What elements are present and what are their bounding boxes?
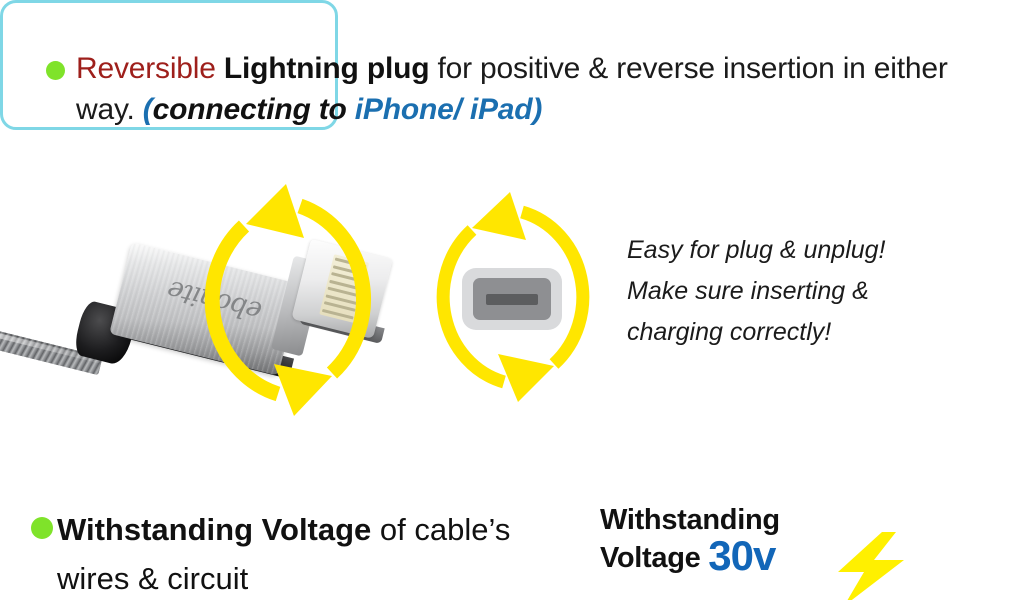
rotation-arrows-plug xyxy=(182,180,394,420)
port-slot xyxy=(486,294,538,305)
arrowhead-upper-left xyxy=(246,184,304,238)
headline-text: Reversible Lightning plug for positive &… xyxy=(76,48,976,130)
easy-text-line-3: charging correctly! xyxy=(627,312,1007,353)
bullet-green-icon xyxy=(46,61,65,80)
headline-connecting-to: connecting to xyxy=(153,93,347,126)
lightning-port-graphic xyxy=(462,268,562,330)
easy-plug-text: Easy for plug & unplug! Make sure insert… xyxy=(627,230,1007,353)
headline-devices: iPhone/ iPad) xyxy=(347,93,543,126)
headline-paren-open: ( xyxy=(143,93,153,126)
lightning-bolt-icon xyxy=(838,532,904,600)
callout-voltage-value: 30v xyxy=(708,532,775,579)
port-inner xyxy=(473,278,551,320)
infographic-page: Reversible Lightning plug for positive &… xyxy=(0,0,1024,600)
callout-line-2: Voltage xyxy=(600,542,701,574)
arrowhead-lower-right xyxy=(498,354,554,402)
headline-word-reversible: Reversible xyxy=(76,52,216,85)
arrowhead-upper-left xyxy=(472,192,526,240)
easy-text-line-2: Make sure inserting & xyxy=(627,271,1007,312)
withstanding-voltage-text: Withstanding Voltage of cable’s wires & … xyxy=(57,505,577,600)
arrowhead-lower-right xyxy=(274,364,332,416)
headline-word-lightning-plug: Lightning plug xyxy=(224,52,429,85)
voltage-bold-part: Withstanding Voltage xyxy=(57,512,371,547)
easy-text-line-1: Easy for plug & unplug! xyxy=(627,230,1007,271)
bullet-green-icon-2 xyxy=(31,517,53,539)
